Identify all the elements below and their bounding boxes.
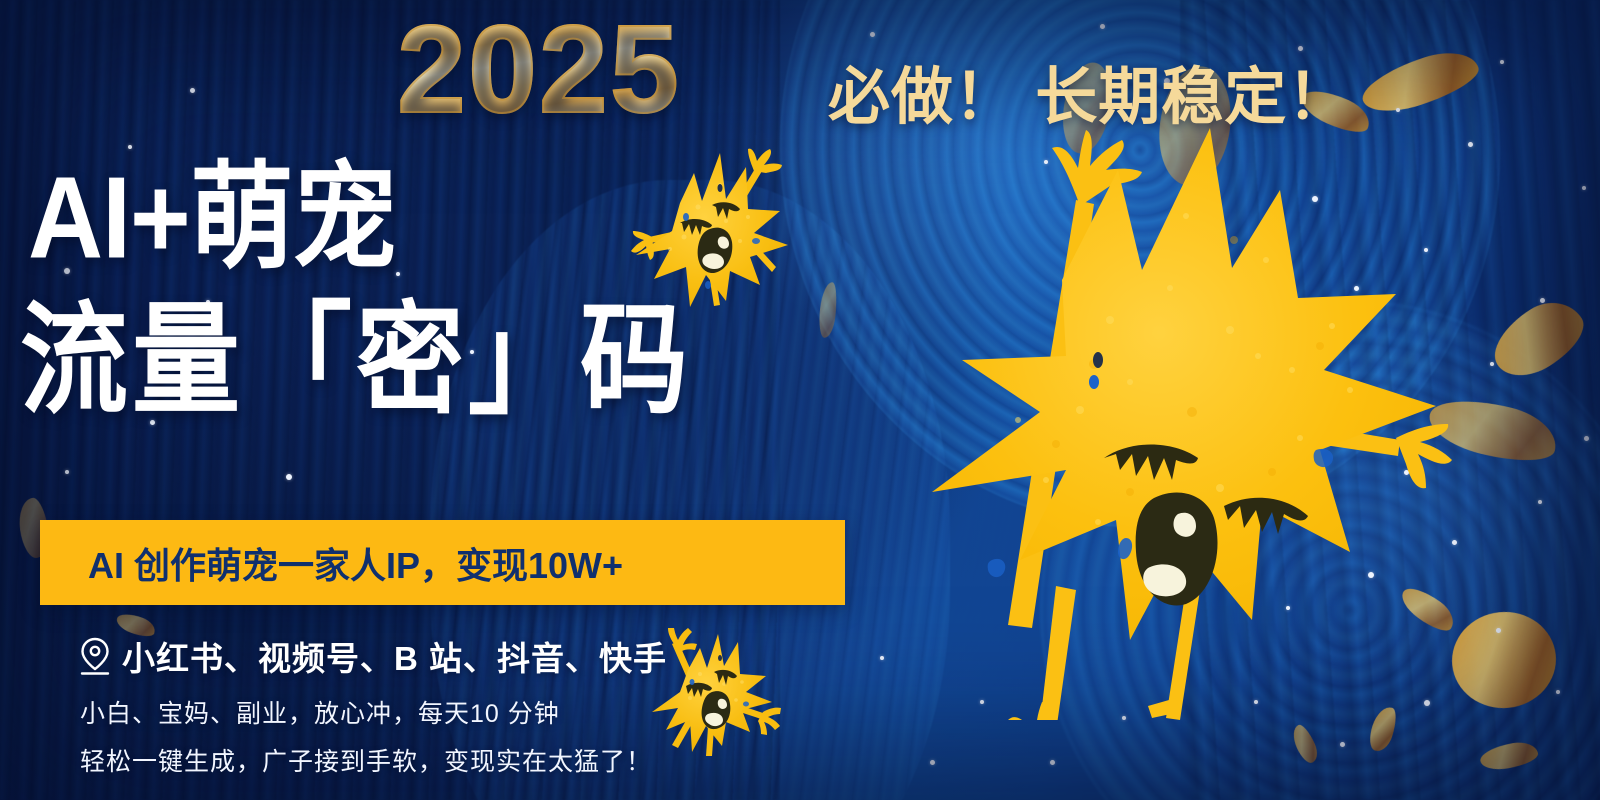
platforms-text: 小红书、视频号、B 站、抖音、快手 xyxy=(122,632,667,680)
highlight-banner-text: AI 创作萌宠一家人IP，变现10W+ xyxy=(88,537,623,589)
page-title-line-2: 流量「密」码 xyxy=(20,300,692,421)
page-title-line-1: AI+萌宠 xyxy=(28,160,396,276)
star-character-big-icon xyxy=(880,120,1460,720)
sub-line-2: 轻松一键生成，广子接到手软，变现实在太猛了！ xyxy=(80,742,652,778)
star-character-small-icon xyxy=(650,628,782,758)
star-character-medium-icon xyxy=(628,145,808,315)
location-pin-icon xyxy=(78,636,112,676)
sub-line-1: 小白、宝妈、副业，放心冲，每天10 分钟 xyxy=(80,694,560,730)
platforms-row: 小红书、视频号、B 站、抖音、快手 xyxy=(78,632,667,680)
poster-canvas: 2025 必做！ 长期稳定！ AI+萌宠 流量「密」码 xyxy=(0,0,1600,800)
year-balloon-text: 2025 xyxy=(397,8,681,132)
highlight-banner: AI 创作萌宠一家人IP，变现10W+ xyxy=(40,520,845,605)
